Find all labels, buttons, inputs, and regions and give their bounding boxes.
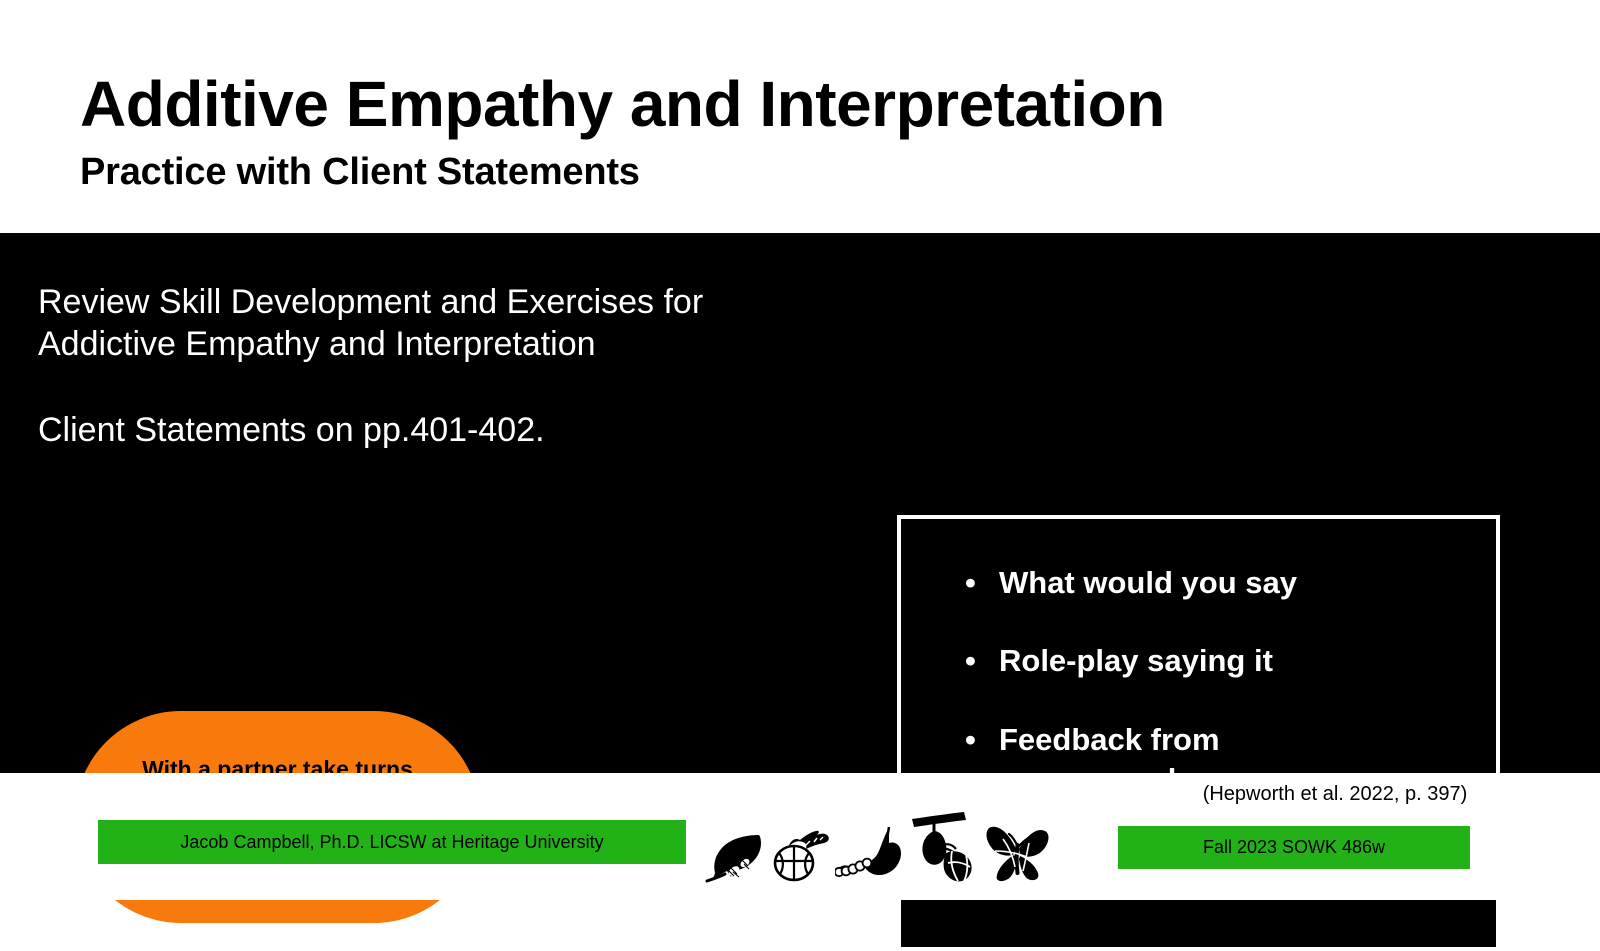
course-tag-label: Fall 2023 SOWK 486w (1203, 837, 1385, 858)
course-tag-bar: Fall 2023 SOWK 486w (1118, 826, 1470, 869)
butterfly-icon (983, 821, 1055, 883)
title-block: Additive Empathy and Interpretation Prac… (80, 72, 1500, 193)
slide-root: Additive Empathy and Interpretation Prac… (0, 0, 1600, 900)
hatching-egg-icon (770, 829, 832, 883)
bullet-dot-icon: • (965, 563, 999, 603)
page-subtitle: Practice with Client Statements (80, 153, 1500, 193)
left-column: Review Skill Development and Exercises f… (38, 281, 828, 451)
citation-text: (Hepworth et al. 2022, p. 397) (1190, 783, 1480, 806)
content-band: Review Skill Development and Exercises f… (0, 233, 1600, 773)
list-item-label: What would you say (999, 563, 1297, 603)
list-item: • Role-play saying it (901, 641, 1496, 681)
leaf-with-eggs-icon (705, 833, 767, 883)
bullet-dot-icon: • (965, 720, 999, 760)
left-paragraph-1: Review Skill Development and Exercises f… (38, 281, 828, 365)
slide-footer: (Hepworth et al. 2022, p. 397) Jacob Cam… (0, 773, 1600, 900)
bullet-dot-icon: • (965, 641, 999, 681)
page-title: Additive Empathy and Interpretation (80, 72, 1500, 137)
author-tag-bar: Jacob Campbell, Ph.D. LICSW at Heritage … (98, 820, 686, 864)
caterpillar-on-leaf-icon (835, 825, 905, 883)
list-item: • What would you say (901, 563, 1496, 603)
butterfly-lifecycle-icons (705, 803, 1055, 883)
author-tag-label: Jacob Campbell, Ph.D. LICSW at Heritage … (180, 832, 603, 853)
left-paragraph-2: Client Statements on pp.401-402. (38, 409, 828, 451)
list-item-label: Role-play saying it (999, 641, 1273, 681)
chrysalis-emerging-icon (908, 811, 980, 883)
steps-list: • What would you say • Role-play saying … (901, 519, 1496, 800)
